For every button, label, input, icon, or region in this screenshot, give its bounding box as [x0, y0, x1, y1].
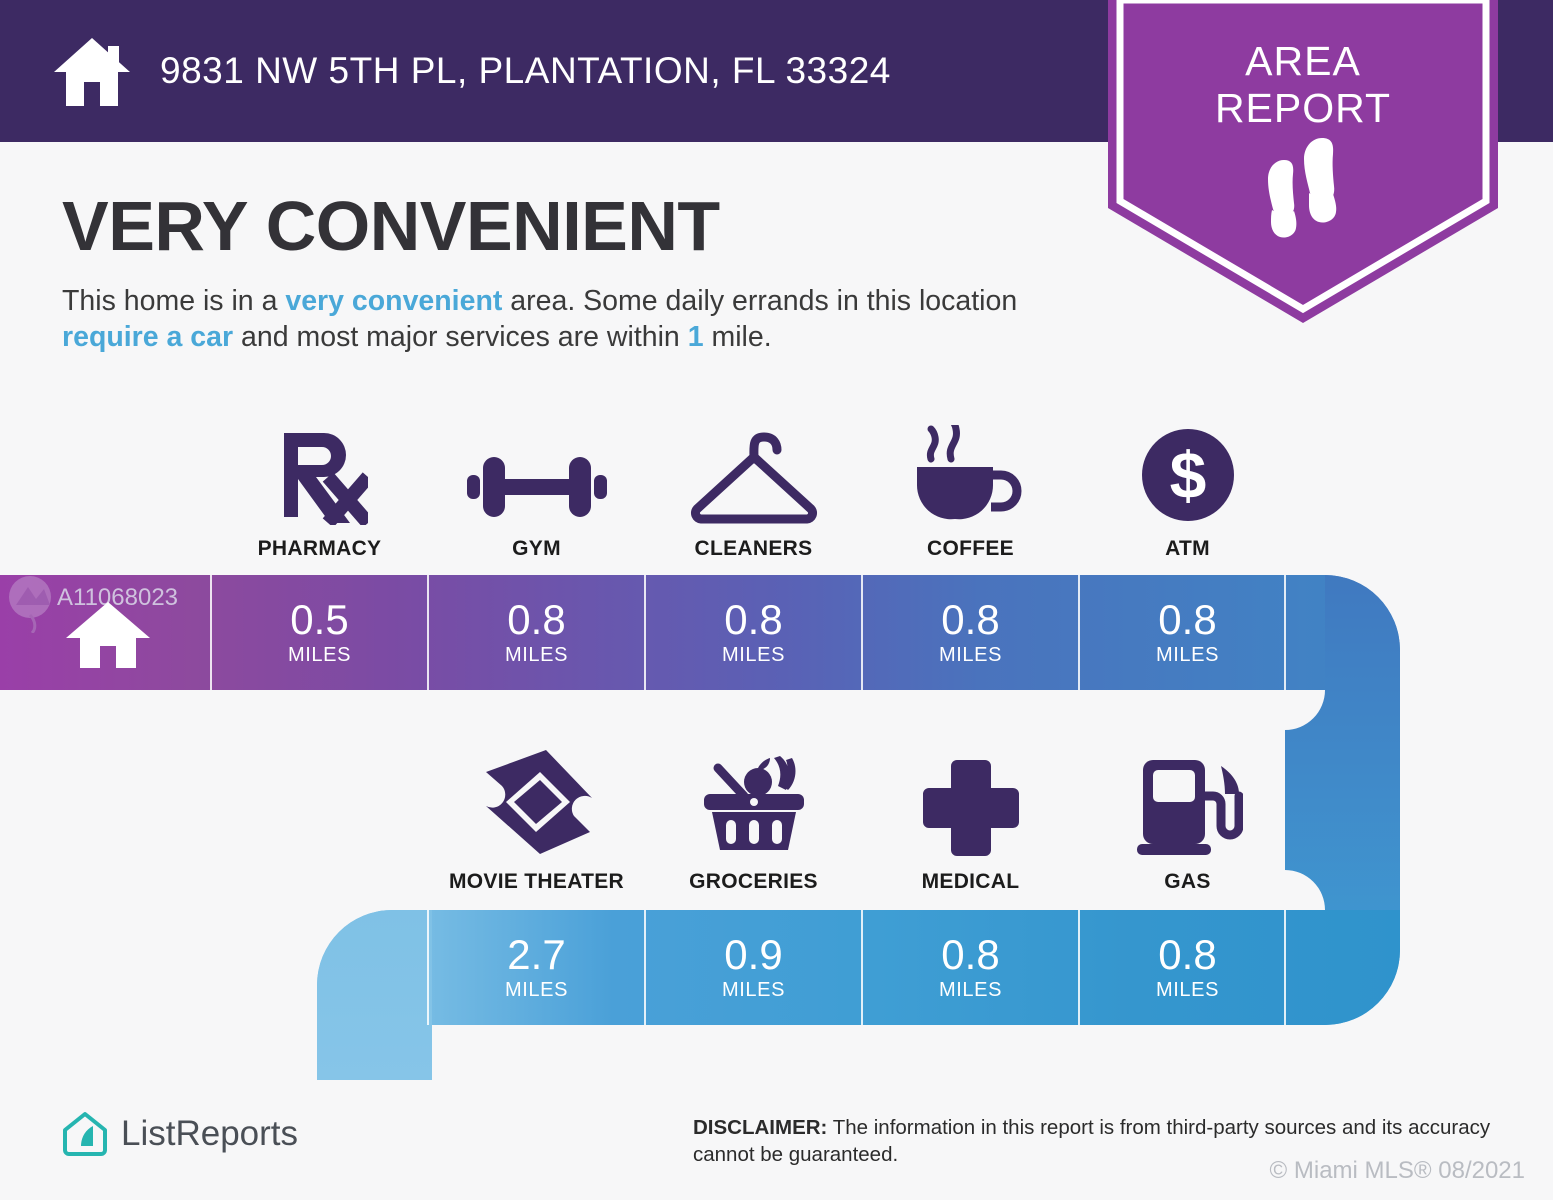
distance-value: 0.5	[290, 598, 348, 642]
amenity-coffee: COFFEE	[862, 425, 1079, 561]
distance-cell-gas: 0.8 MILES	[1079, 910, 1296, 1025]
distance-value: 0.8	[1158, 933, 1216, 977]
listreports-house-icon	[62, 1110, 108, 1158]
listreports-wordmark: ListReports	[121, 1114, 298, 1154]
amenity-gas: GAS	[1079, 758, 1296, 894]
page-title: VERY CONVENIENT	[62, 186, 720, 266]
amenity-gym: GYM	[428, 425, 645, 561]
amenity-pharmacy: PHARMACY	[211, 425, 428, 561]
badge-title-line1: AREA	[1108, 38, 1498, 85]
ticket-icon	[478, 758, 596, 858]
gas-pump-icon	[1133, 758, 1243, 858]
amenity-label: PHARMACY	[258, 537, 382, 561]
distance-cell-medical: 0.8 MILES	[862, 910, 1079, 1025]
badge-title-line2: REPORT	[1108, 85, 1498, 132]
distance-unit: MILES	[939, 979, 1002, 1002]
summary-highlight-convenient: very convenient	[285, 285, 502, 317]
summary-part1: This home is in a	[62, 285, 285, 317]
amenity-label: MEDICAL	[922, 870, 1020, 894]
distance-unit: MILES	[722, 979, 785, 1002]
home-marker-icon	[64, 600, 152, 670]
summary-part2: area. Some daily errands in this locatio…	[502, 285, 1017, 317]
amenity-label: CLEANERS	[695, 537, 813, 561]
home-icon	[52, 34, 132, 108]
prescription-rx-icon	[272, 425, 368, 525]
amenity-icon-row-1: PHARMACY GYM CLEANERS	[211, 425, 1296, 561]
property-address: 9831 NW 5TH PL, PLANTATION, FL 33324	[160, 50, 891, 92]
distance-row-1: 0.5 MILES 0.8 MILES 0.8 MILES 0.8 MILES …	[211, 575, 1296, 690]
distance-cell-atm: 0.8 MILES	[1079, 575, 1296, 690]
amenity-label: ATM	[1165, 537, 1210, 561]
distance-cell-groceries: 0.9 MILES	[645, 910, 862, 1025]
distance-unit: MILES	[505, 644, 568, 667]
summary-part3: and most major services are within	[233, 321, 688, 353]
distance-cell-cleaners: 0.8 MILES	[645, 575, 862, 690]
distance-value: 0.8	[941, 598, 999, 642]
distance-value: 0.9	[724, 933, 782, 977]
amenity-label: MOVIE THEATER	[449, 870, 624, 894]
distance-value: 0.8	[507, 598, 565, 642]
badge-title: AREA REPORT	[1108, 38, 1498, 132]
amenity-label: GAS	[1164, 870, 1210, 894]
amenity-medical: MEDICAL	[862, 758, 1079, 894]
summary-part4: mile.	[704, 321, 772, 353]
clothes-hanger-icon	[689, 425, 819, 525]
distance-cell-coffee: 0.8 MILES	[862, 575, 1079, 690]
distance-cell-gym: 0.8 MILES	[428, 575, 645, 690]
amenity-label: GYM	[512, 537, 561, 561]
amenity-movie-theater: MOVIE THEATER	[428, 758, 645, 894]
amenity-groceries: GROCERIES	[645, 758, 862, 894]
area-report-badge: AREA REPORT	[1108, 0, 1498, 323]
coffee-cup-icon	[911, 425, 1031, 525]
summary-highlight-car: require a car	[62, 321, 233, 353]
amenity-label: COFFEE	[927, 537, 1014, 561]
amenity-cleaners: CLEANERS	[645, 425, 862, 561]
amenity-label: GROCERIES	[689, 870, 818, 894]
distance-value: 0.8	[724, 598, 782, 642]
grocery-basket-icon	[696, 758, 812, 858]
distance-unit: MILES	[505, 979, 568, 1002]
summary-text: This home is in a very convenient area. …	[62, 283, 1102, 355]
amenity-atm: $ ATM	[1079, 425, 1296, 561]
medical-cross-icon	[921, 758, 1021, 858]
distance-cell-pharmacy: 0.5 MILES	[211, 575, 428, 690]
distance-unit: MILES	[1156, 979, 1219, 1002]
mls-watermark-logo	[4, 575, 62, 633]
distance-cell-movie-theater: 2.7 MILES	[428, 910, 645, 1025]
amenity-icon-row-2: MOVIE THEATER GROCERIES	[428, 758, 1296, 894]
distance-row-2: 2.7 MILES 0.9 MILES 0.8 MILES 0.8 MILES	[428, 910, 1296, 1025]
listreports-logo: ListReports	[62, 1110, 298, 1158]
svg-text:$: $	[1169, 438, 1206, 512]
distance-value: 0.8	[941, 933, 999, 977]
dumbbell-icon	[467, 425, 607, 525]
distance-value: 2.7	[507, 933, 565, 977]
mls-credit: © Miami MLS® 08/2021	[1270, 1157, 1525, 1185]
summary-highlight-miles: 1	[688, 321, 704, 353]
distance-unit: MILES	[722, 644, 785, 667]
distance-unit: MILES	[939, 644, 1002, 667]
distance-unit: MILES	[288, 644, 351, 667]
distance-unit: MILES	[1156, 644, 1219, 667]
dollar-circle-icon: $	[1138, 425, 1238, 525]
distance-value: 0.8	[1158, 598, 1216, 642]
disclaimer-label: DISCLAIMER:	[693, 1116, 827, 1139]
